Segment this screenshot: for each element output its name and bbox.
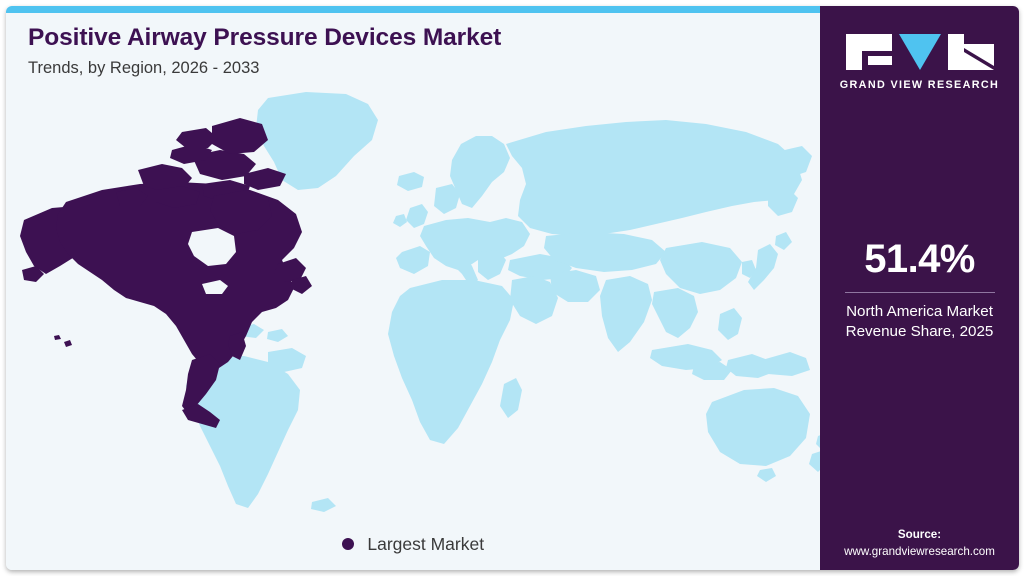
stat-divider <box>845 292 995 293</box>
filled-circle-icon <box>342 538 354 550</box>
legend-label: Largest Market <box>367 534 484 555</box>
infographic-card: Positive Airway Pressure Devices Market … <box>6 6 1019 570</box>
map-pane: Positive Airway Pressure Devices Market … <box>6 6 820 570</box>
world-map-container <box>6 84 820 514</box>
stat-value: 51.4% <box>820 238 1019 280</box>
source-block: Source: www.grandviewresearch.com <box>820 527 1019 561</box>
stat-caption-line-2: Revenue Share, 2025 <box>820 322 1019 342</box>
top-accent-bar <box>6 6 820 13</box>
stat-caption-line-1: North America Market <box>820 302 1019 322</box>
brand-wordmark: GRAND VIEW RESEARCH <box>820 79 1019 91</box>
world-map-svg <box>6 84 820 514</box>
gvr-logo-icon <box>846 32 994 72</box>
page-title: Positive Airway Pressure Devices Market <box>28 24 788 52</box>
stat-block: 51.4% North America Market Revenue Share… <box>820 238 1019 342</box>
map-legend: Largest Market <box>6 534 820 555</box>
brand-logo-block: GRAND VIEW RESEARCH <box>820 32 1019 91</box>
page-subtitle: Trends, by Region, 2026 - 2033 <box>28 59 788 79</box>
brand-stat-pane: GRAND VIEW RESEARCH 51.4% North America … <box>820 6 1019 570</box>
source-label: Source: <box>820 527 1019 544</box>
header-block: Positive Airway Pressure Devices Market … <box>28 24 788 79</box>
source-url[interactable]: www.grandviewresearch.com <box>820 544 1019 561</box>
